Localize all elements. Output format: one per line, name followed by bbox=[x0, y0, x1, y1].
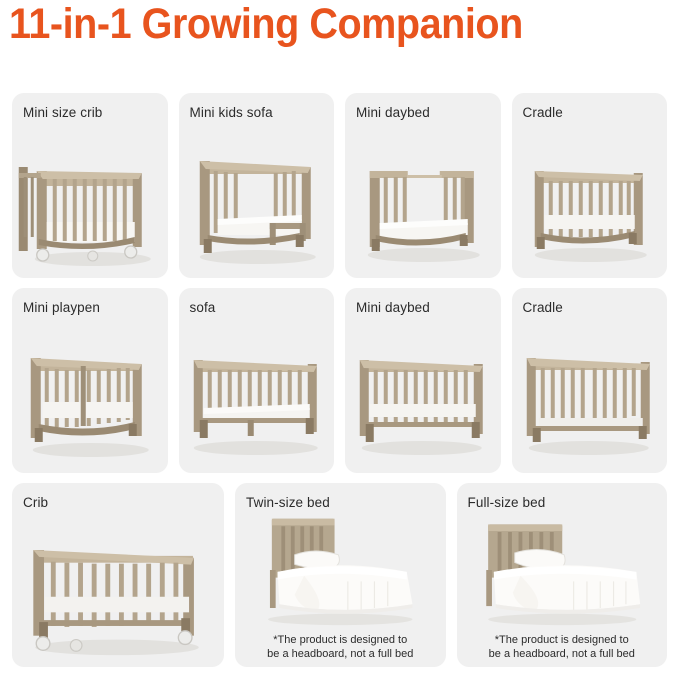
card-row-1: Mini size crib bbox=[0, 93, 679, 278]
card-label: Full-size bed bbox=[468, 495, 546, 510]
card-label: sofa bbox=[190, 300, 216, 315]
card-cradle-1[interactable]: Cradle bbox=[512, 93, 668, 278]
card-note: *The product is designed tobe a headboar… bbox=[463, 634, 662, 661]
card-crib[interactable]: Crib bbox=[12, 483, 224, 667]
card-label: Cradle bbox=[523, 105, 563, 120]
mini-crib-figure bbox=[12, 127, 168, 272]
mini-kids-sofa-figure bbox=[179, 127, 335, 272]
card-label: Mini kids sofa bbox=[190, 105, 273, 120]
card-mini-playpen[interactable]: Mini playpen bbox=[12, 288, 168, 473]
card-label: Mini playpen bbox=[23, 300, 100, 315]
card-cradle-2[interactable]: Cradle bbox=[512, 288, 668, 473]
crib-figure bbox=[12, 515, 224, 661]
card-label: Crib bbox=[23, 495, 48, 510]
card-label: Twin-size bed bbox=[246, 495, 330, 510]
card-mini-daybed-2[interactable]: Mini daybed bbox=[345, 288, 501, 473]
card-mini-size-crib[interactable]: Mini size crib bbox=[12, 93, 168, 278]
cradle-large-figure bbox=[512, 322, 668, 467]
card-twin-size-bed[interactable]: Twin-size bed bbox=[235, 483, 446, 667]
mini-daybed-figure bbox=[345, 127, 501, 272]
card-row-3: Crib bbox=[0, 483, 679, 667]
cradle-figure bbox=[512, 127, 668, 272]
daybed-figure bbox=[345, 322, 501, 467]
twin-bed-figure bbox=[235, 513, 446, 627]
card-mini-kids-sofa[interactable]: Mini kids sofa bbox=[179, 93, 335, 278]
page-title: 11-in-1 Growing Companion bbox=[9, 0, 523, 50]
configuration-grid: Mini size crib bbox=[0, 93, 679, 677]
card-label: Mini daybed bbox=[356, 105, 430, 120]
card-row-2: Mini playpen bbox=[0, 288, 679, 473]
card-sofa[interactable]: sofa bbox=[179, 288, 335, 473]
card-label: Mini size crib bbox=[23, 105, 102, 120]
sofa-figure bbox=[179, 322, 335, 467]
card-note: *The product is designed tobe a headboar… bbox=[241, 634, 440, 661]
card-label: Cradle bbox=[523, 300, 563, 315]
card-mini-daybed-1[interactable]: Mini daybed bbox=[345, 93, 501, 278]
card-full-size-bed[interactable]: Full-size bed bbox=[457, 483, 668, 667]
mini-playpen-figure bbox=[12, 322, 168, 467]
full-bed-figure bbox=[457, 513, 668, 627]
card-label: Mini daybed bbox=[356, 300, 430, 315]
